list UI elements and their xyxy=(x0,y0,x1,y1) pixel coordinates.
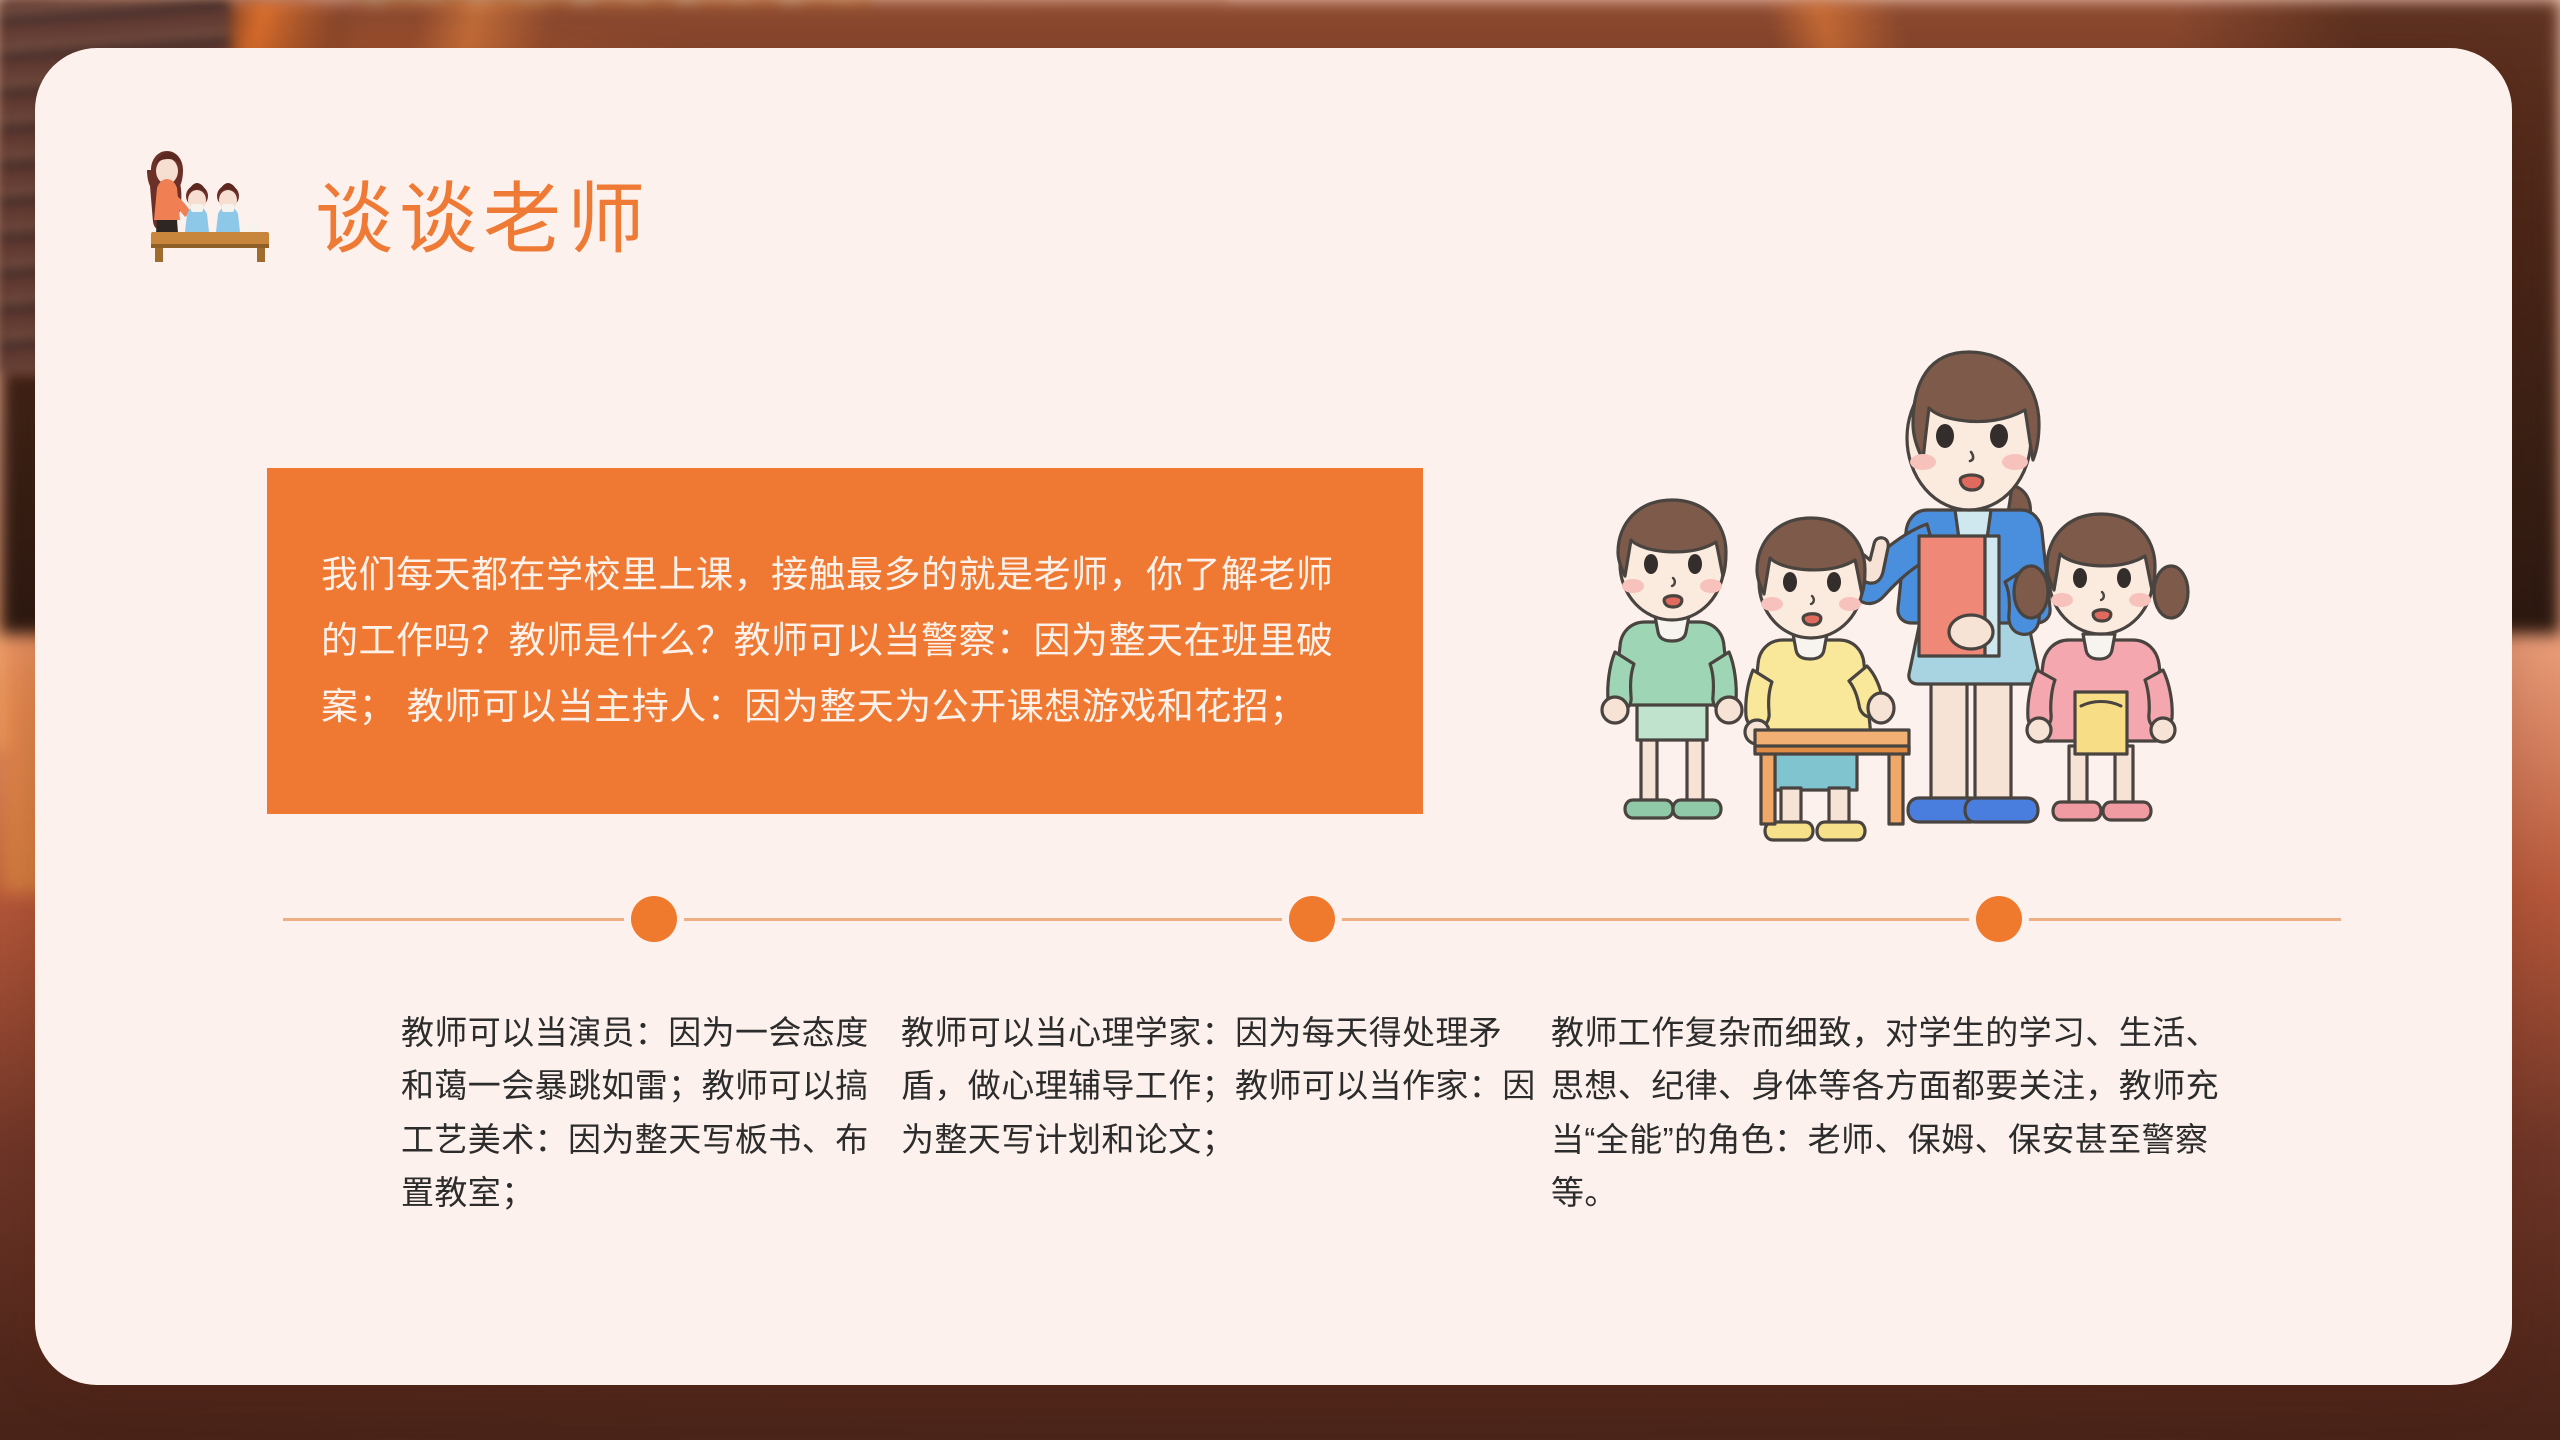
timeline-divider xyxy=(283,918,2341,922)
slide-header: 谈谈老师 xyxy=(121,144,651,262)
timeline-dot-1 xyxy=(631,896,677,942)
highlight-text: 我们每天都在学校里上课，接触最多的就是老师，你了解老师的工作吗？教师是什么？教师… xyxy=(267,542,1423,740)
body-column-3: 教师工作复杂而细致，对学生的学习、生活、思想、纪律、身体等各方面都要关注，教师充… xyxy=(1551,1006,2231,1220)
teacher-and-students-icon xyxy=(121,144,273,262)
page-title: 谈谈老师 xyxy=(315,180,651,262)
timeline-dot-2 xyxy=(1289,896,1335,942)
slide-card: 谈谈老师 我们每天都在学校里上课，接触最多的就是老师，你了解老师的工作吗？教师是… xyxy=(35,48,2512,1385)
highlight-text-box: 我们每天都在学校里上课，接触最多的就是老师，你了解老师的工作吗？教师是什么？教师… xyxy=(267,468,1423,814)
body-column-2: 教师可以当心理学家：因为每天得处理矛盾，做心理辅导工作；教师可以当作家：因为整天… xyxy=(901,1006,1551,1220)
teacher-with-three-students-illustration xyxy=(1575,310,2195,870)
timeline-dot-3 xyxy=(1976,896,2022,942)
body-column-1: 教师可以当演员：因为一会态度和蔼一会暴跳如雷；教师可以搞工艺美术：因为整天写板书… xyxy=(401,1006,901,1220)
body-columns: 教师可以当演员：因为一会态度和蔼一会暴跳如雷；教师可以搞工艺美术：因为整天写板书… xyxy=(401,1006,2361,1220)
